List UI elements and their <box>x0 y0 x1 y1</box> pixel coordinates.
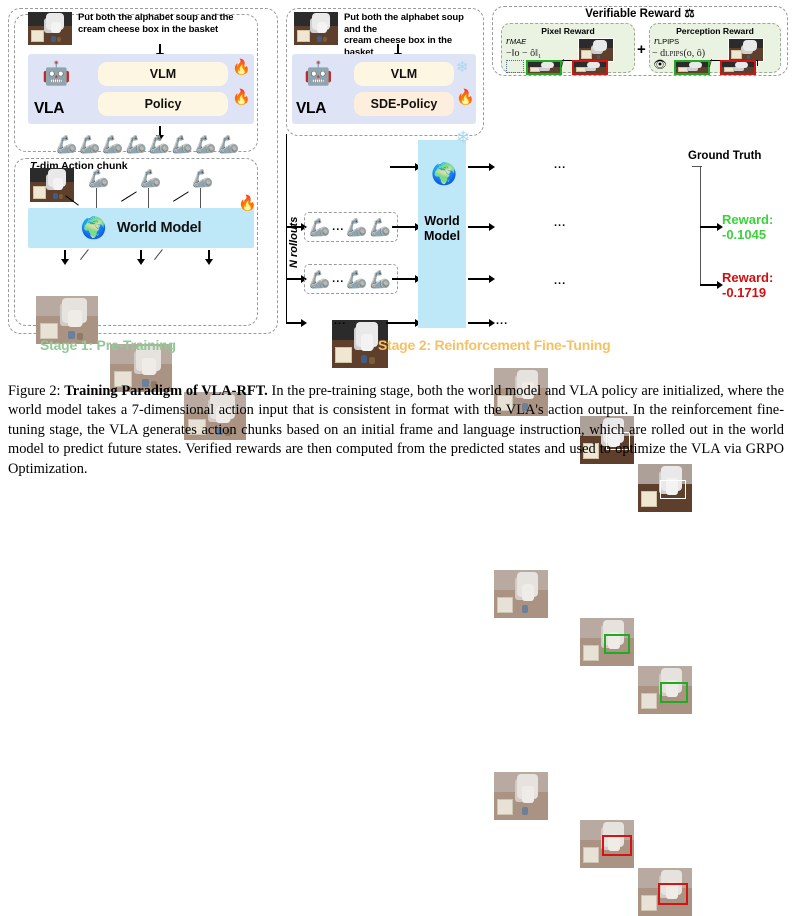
stage2-label: Stage 2: Reinforcement Fine-Tuning <box>378 337 611 353</box>
robot-arm-icon: 🦾 <box>370 271 391 288</box>
rollout-group-1: 🦾 ... 🦾 🦾 <box>304 212 398 242</box>
perception-reward-card: Perception Reward rLPIPS − dLPIPS(o, ô) … <box>649 23 781 73</box>
diagram-canvas: Put both the alphabet soup and the cream… <box>0 0 792 370</box>
perception-reward-title: Perception Reward <box>650 26 780 36</box>
robot-arm-icon: 🦾 <box>172 136 193 153</box>
predicted-state-frame <box>638 868 692 916</box>
figure-caption: Figure 2: Training Paradigm of VLA-RFT. … <box>8 382 784 479</box>
robot-arm-icon: 🦾 <box>102 136 123 153</box>
balance-scale-icon: ⚖ <box>684 8 694 20</box>
predicted-state-frame <box>494 570 548 618</box>
fire-icon: 🔥 <box>232 60 251 75</box>
robot-arm-icon: 🦾 <box>309 219 330 236</box>
robot-arm-icon: 🦾 <box>192 170 213 187</box>
verifiable-reward-panel: Verifiable Reward ⚖ Pixel Reward rMAE −‖… <box>492 6 788 76</box>
snowflake-icon: ❄ <box>456 130 470 145</box>
stage1-vla-box: 🤖 VLA VLM 🔥 Policy 🔥 <box>28 54 254 124</box>
caption-title: Training Paradigm of VLA-RFT. <box>64 383 268 399</box>
perception-reward-separator: / <box>709 58 712 70</box>
arrow-instruction-to-vla <box>159 44 161 54</box>
pixel-reward-card: Pixel Reward rMAE −‖o − ô‖₁ / <box>501 23 635 73</box>
pixel-reward-reference-frame <box>578 38 614 62</box>
stage1-label: Stage 1: Pre-Training <box>40 337 176 353</box>
stage2-module-vlm: VLM <box>354 62 454 86</box>
stage1-vla-label: VLA <box>34 100 64 118</box>
snowflake-icon: ❄ <box>456 60 469 75</box>
robot-arm-icon: 🦾 <box>370 219 391 236</box>
stage2-vla-box: 🤖 VLA VLM ❄ SDE-Policy 🔥 <box>292 54 476 124</box>
stage1-module-policy: Policy <box>98 92 228 116</box>
fire-icon: 🔥 <box>232 90 251 105</box>
figure-2: Put both the alphabet soup and the cream… <box>0 0 792 510</box>
robot-arm-icon: 🦾 <box>346 219 367 236</box>
row-ellipsis: ... <box>554 160 566 170</box>
rollout-ellipsis: ... <box>334 316 346 326</box>
pixel-reward-formula: −‖o − ô‖₁ <box>506 48 541 59</box>
instruction-line-1: Put both the alphabet soup and the <box>78 12 233 24</box>
fire-icon: 🔥 <box>238 196 257 211</box>
instruction-line-2: cream cheese box in the basket <box>78 24 233 36</box>
stage1-world-model-title: World Model <box>117 220 202 236</box>
stage2-instruction: Put both the alphabet soup and the cream… <box>294 12 480 58</box>
reward-sum-operator: + <box>637 41 646 58</box>
robot-arm-icon: 🦾 <box>79 136 100 153</box>
stage2-vla-label: VLA <box>296 100 326 118</box>
verifiable-reward-title-row: Verifiable Reward ⚖ <box>493 6 787 20</box>
robot-arm-icon: 🦾 <box>56 136 77 153</box>
globe-icon: 🌍 <box>81 218 107 239</box>
pixel-reward-separator: / <box>561 58 564 70</box>
caption-label: Figure 2: <box>8 383 61 399</box>
pixel-reward-bad-frame <box>572 60 608 75</box>
rollouts-label: N rollouts <box>288 217 300 268</box>
stage1-world-model-box: 🌍 World Model <box>28 208 254 248</box>
ground-truth-label: Ground Truth <box>688 150 761 162</box>
arrow-instruction-to-vla <box>397 44 399 54</box>
stage1-action-chunk-row: 🦾 🦾 🦾 🦾 🦾 🦾 🦾 🦾 <box>56 136 239 153</box>
predicted-state-frame <box>494 772 548 820</box>
perception-reward-reference-frame <box>728 38 764 62</box>
robot-arm-icon: 🦾 <box>126 136 147 153</box>
output-ellipsis: ... <box>496 316 508 326</box>
predicted-state-frame <box>580 820 634 868</box>
fire-icon: 🔥 <box>456 90 475 105</box>
perception-reward-good-frame <box>674 60 710 75</box>
stage2-module-sde-policy: SDE-Policy <box>354 92 454 116</box>
robot-icon: 🤖 <box>304 62 333 85</box>
row-ellipsis: ... <box>554 276 566 286</box>
predicted-state-frame <box>638 666 692 714</box>
robot-arm-icon: 🦾 <box>195 136 216 153</box>
rollout-ellipsis: ... <box>332 222 344 232</box>
pixel-reward-symbol: rMAE <box>506 36 526 47</box>
stage2-world-model-box: 🌍 World Model <box>418 140 466 328</box>
eye-icon: 👁 <box>653 58 667 71</box>
verifiable-reward-title: Verifiable Reward <box>585 8 681 20</box>
globe-icon: 🌍 <box>431 164 457 185</box>
stage2-world-model-title: World Model <box>418 214 466 244</box>
stage1-module-vlm: VLM <box>98 62 228 86</box>
robot-arm-icon: 🦾 <box>218 136 239 153</box>
robot-icon: 🤖 <box>42 62 71 85</box>
rollout-group-2: 🦾 ... 🦾 🦾 <box>304 264 398 294</box>
perception-reward-bad-frame <box>720 60 756 75</box>
reward-negative: Reward: -0.1719 <box>722 270 773 300</box>
reward-positive: Reward: -0.1045 <box>722 212 773 242</box>
instruction-line-1: Put both the alphabet soup and the <box>344 12 480 35</box>
robot-arm-icon: 🦾 <box>88 170 109 187</box>
row-ellipsis: ... <box>554 218 566 228</box>
stage1-instruction: Put both the alphabet soup and the cream… <box>28 12 254 45</box>
pixel-reward-good-frame <box>526 60 562 75</box>
robot-arm-icon: 🦾 <box>309 271 330 288</box>
robot-arm-icon: 🦾 <box>346 271 367 288</box>
perception-reward-symbol: rLPIPS <box>654 36 679 47</box>
robot-arm-icon: 🦾 <box>149 136 170 153</box>
predicted-state-frame <box>580 618 634 666</box>
initial-frame-thumbnail <box>28 12 72 45</box>
initial-frame-thumbnail <box>294 12 338 45</box>
robot-arm-icon: 🦾 <box>140 170 161 187</box>
rollout-ellipsis: ... <box>332 274 344 284</box>
pixel-reward-title: Pixel Reward <box>502 26 634 36</box>
